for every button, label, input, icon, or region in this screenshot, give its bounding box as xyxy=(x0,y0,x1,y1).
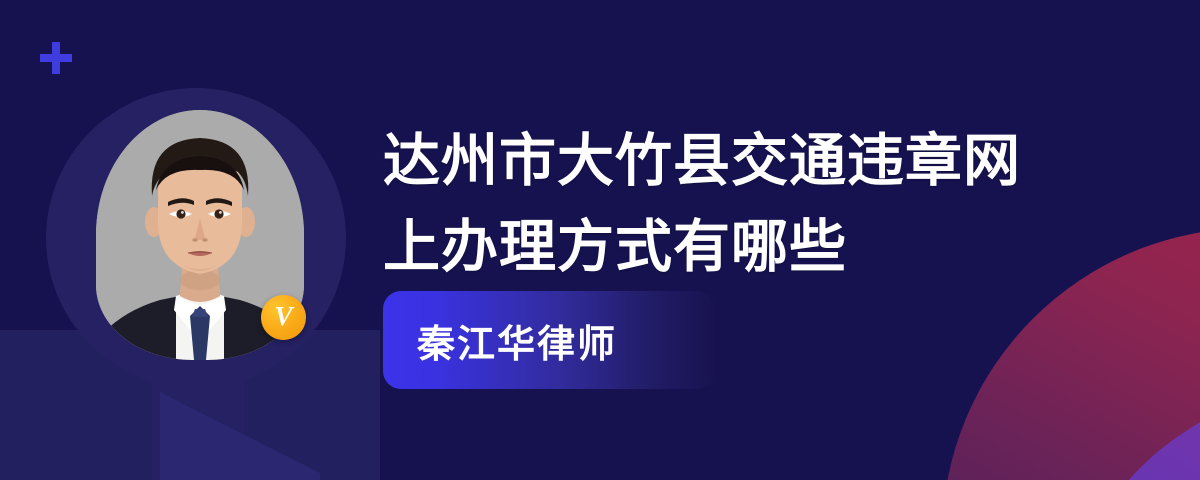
verified-v-icon: V xyxy=(261,295,306,340)
author-name-label: 秦江华律师 xyxy=(383,313,617,368)
verified-badge-letter: V xyxy=(274,303,292,330)
headline-block: 达州市大竹县交通违章网 上办理方式有哪些 xyxy=(383,118,1083,290)
page-title: 达州市大竹县交通违章网 上办理方式有哪些 xyxy=(383,118,1083,290)
author-name-badge: 秦江华律师 xyxy=(383,291,715,389)
plus-icon xyxy=(40,42,72,74)
promo-banner: V 达州市大竹县交通违章网 上办理方式有哪些 秦江华律师 xyxy=(0,0,1200,480)
plus-icon-bar-vertical xyxy=(52,42,60,74)
